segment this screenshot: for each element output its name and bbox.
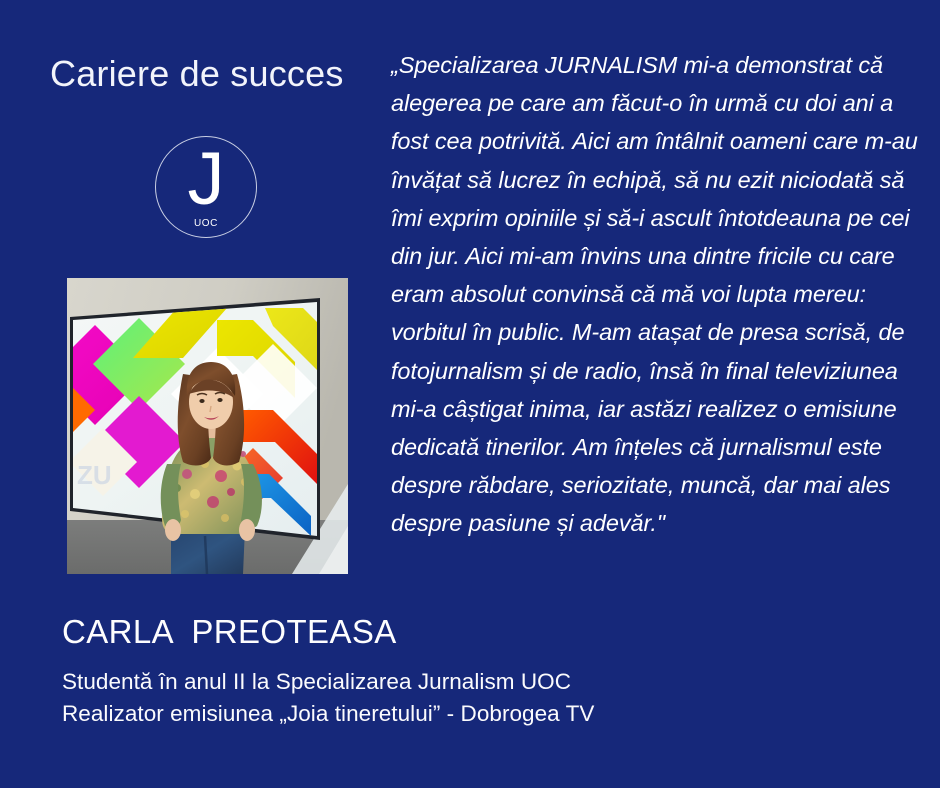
left-column: Cariere de succes J UOC	[0, 0, 382, 605]
caption-block: CARLA PREOTEASA Studentă în anul II la S…	[62, 612, 902, 730]
portrait-photo-graphic: ZU	[67, 278, 348, 574]
page-title: Cariere de succes	[50, 52, 344, 96]
logo-subtitle: UOC	[155, 218, 257, 229]
portrait-photo: ZU	[67, 278, 348, 574]
person-role: Studentă în anul II la Specializarea Jur…	[62, 666, 902, 698]
circle-j-uoc-logo: J UOC	[155, 136, 257, 238]
person-name: CARLA PREOTEASA	[62, 612, 902, 652]
logo-letter: J	[155, 139, 257, 219]
person-show: Realizator emisiunea „Joia tineretului” …	[62, 698, 902, 730]
poster-canvas: Cariere de succes J UOC	[0, 0, 940, 788]
svg-text:ZU: ZU	[77, 460, 112, 490]
testimonial-quote: „Specializarea JURNALISM mi-a demonstrat…	[391, 46, 931, 543]
